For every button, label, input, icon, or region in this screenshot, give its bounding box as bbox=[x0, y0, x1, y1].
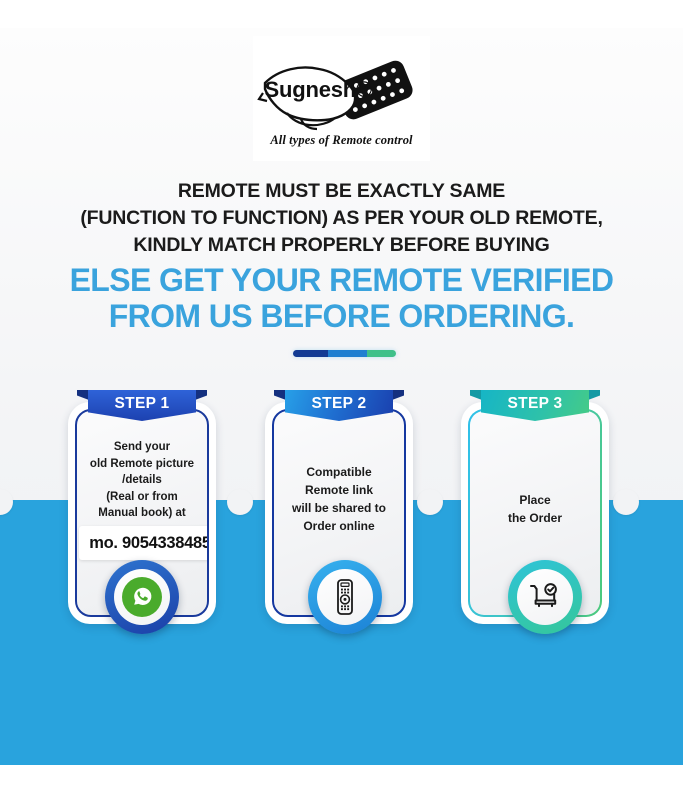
ribbon-body: STEP 2 bbox=[285, 390, 393, 421]
headline-line-1: REMOTE MUST BE EXACTLY SAME bbox=[0, 178, 683, 205]
divider-bar bbox=[293, 350, 396, 357]
step-2-label: STEP 2 bbox=[312, 395, 367, 413]
step-3-label: STEP 3 bbox=[508, 395, 563, 413]
icon-disc bbox=[114, 569, 170, 625]
waterline-notch bbox=[613, 489, 639, 515]
icon-disc bbox=[517, 569, 573, 625]
step-1-ribbon: STEP 1 bbox=[88, 390, 196, 421]
whatsapp-number: mo. 9054338485 bbox=[89, 534, 209, 553]
headline-line-3: KINDLY MATCH PROPERLY BEFORE BUYING bbox=[0, 232, 683, 259]
step-1-text: Send your old Remote picture /details (R… bbox=[84, 439, 200, 522]
cart-check-icon bbox=[525, 577, 565, 617]
whatsapp-number-plate[interactable]: mo. 9054338485 bbox=[79, 526, 209, 560]
headline: REMOTE MUST BE EXACTLY SAME (FUNCTION TO… bbox=[0, 178, 683, 259]
ribbon-body: STEP 1 bbox=[88, 390, 196, 421]
divider-segment-3 bbox=[367, 350, 396, 357]
whatsapp-icon bbox=[121, 576, 163, 618]
remote-icon-circle[interactable] bbox=[308, 560, 382, 634]
waterline-notch bbox=[417, 489, 443, 515]
brand-logo: Sugnesh® All types of Remote control bbox=[253, 36, 430, 161]
subheadline: ELSE GET YOUR REMOTE VERIFIED FROM US BE… bbox=[0, 262, 683, 334]
subheadline-line-1: ELSE GET YOUR REMOTE VERIFIED bbox=[0, 262, 683, 298]
subheadline-line-2: FROM US BEFORE ORDERING. bbox=[0, 298, 683, 334]
step-2-ribbon: STEP 2 bbox=[285, 390, 393, 421]
whatsapp-icon-circle[interactable] bbox=[105, 560, 179, 634]
step-2-text: Compatible Remote link will be shared to… bbox=[286, 463, 392, 535]
step-3-ribbon: STEP 3 bbox=[481, 390, 589, 421]
hand-holding-remote-icon: Sugnesh® bbox=[257, 49, 427, 137]
divider-segment-1 bbox=[293, 350, 328, 357]
cart-icon-circle[interactable] bbox=[508, 560, 582, 634]
remote-control-icon bbox=[325, 577, 365, 617]
headline-line-2: (FUNCTION TO FUNCTION) AS PER YOUR OLD R… bbox=[0, 205, 683, 232]
divider-segment-2 bbox=[328, 350, 367, 357]
step-1-label: STEP 1 bbox=[115, 395, 170, 413]
brand-name: Sugnesh® bbox=[265, 77, 373, 103]
ribbon-body: STEP 3 bbox=[481, 390, 589, 421]
promo-poster: Sugnesh® All types of Remote control REM… bbox=[0, 0, 683, 800]
waterline-notch bbox=[227, 489, 253, 515]
icon-disc bbox=[317, 569, 373, 625]
step-3-text: Place the Order bbox=[502, 491, 568, 527]
